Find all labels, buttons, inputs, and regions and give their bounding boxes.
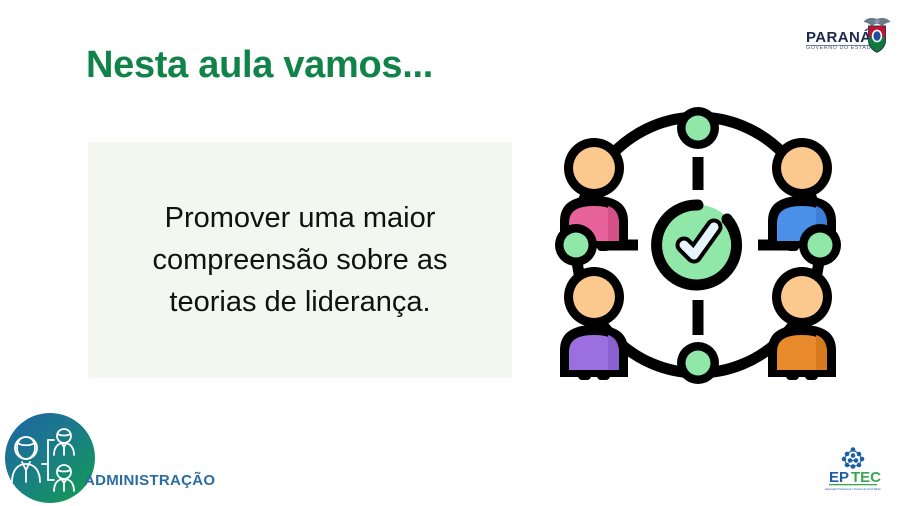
network-node-left (555, 224, 597, 266)
parana-government-logo: PARANÁ GOVERNO DO ESTADO (806, 16, 892, 56)
person-bottom-left (560, 267, 628, 380)
teamwork-network-illustration (538, 95, 858, 395)
page-title: Nesta aula vamos... (86, 44, 433, 87)
network-node-right (799, 224, 841, 266)
lesson-objective-text: Promover uma maior compreensão sobre as … (114, 197, 486, 323)
eptec-wordmark-tec: TEC (851, 469, 881, 486)
parana-coat-of-arms-icon (862, 16, 892, 54)
eptec-network-icon (842, 447, 865, 469)
administracao-logo-icon (2, 410, 98, 506)
administracao-label: ADMINISTRAÇÃO (84, 472, 215, 489)
network-node-top (677, 107, 719, 149)
check-circle-icon (657, 205, 738, 285)
lesson-objective-panel: Promover uma maior compreensão sobre as … (88, 142, 512, 378)
network-node-bottom (677, 342, 719, 384)
eptec-logo: EP TEC Educação Profissional e Técnica d… (824, 446, 882, 494)
eptec-wordmark-ep: EP (829, 469, 849, 486)
person-bottom-right (768, 267, 836, 380)
eptec-tagline: Educação Profissional e Técnica de Nível… (825, 487, 881, 491)
slide-canvas: PARANÁ GOVERNO DO ESTADO Nesta aula vamo… (0, 0, 900, 506)
